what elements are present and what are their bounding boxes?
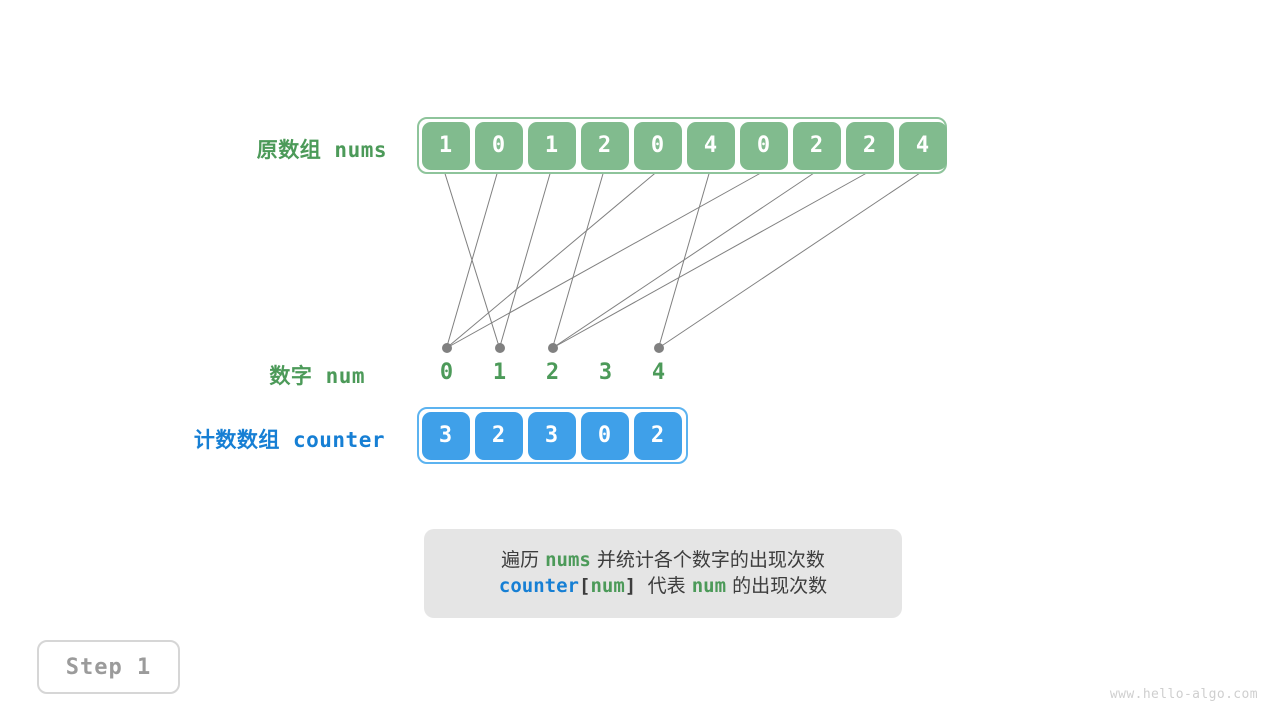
num-bucket-dot [495,343,505,353]
num-tick-label: 2 [526,362,579,384]
nums-cell: 0 [634,122,682,170]
caption-token-nums: nums [545,549,591,571]
caption-text-prefix: 遍历 [501,549,545,571]
counter-row-label: 计数数组 counter [90,424,385,454]
step-badge: Step 1 [37,640,180,694]
caption-text-means: 代表 [648,575,692,597]
counter-cell: 3 [422,412,470,460]
num-tick-label: 1 [473,362,526,384]
nums-cell: 0 [475,122,523,170]
mapping-line [447,172,763,348]
nums-cell: 4 [687,122,735,170]
num-tick-row: 01234 [420,340,710,388]
diagram-canvas: 原数组 nums 1012040224 数字 num 01234 计数数组 co… [0,0,1280,720]
nums-row-label: 原数组 nums [140,134,387,164]
num-bucket-dot [442,343,452,353]
num-bucket-dot [654,343,664,353]
watermark: www.hello-algo.com [1110,687,1258,702]
num-tick-label: 3 [579,362,632,384]
caption-line-1: 遍历 nums 并统计各个数字的出现次数 [501,551,825,570]
caption-token-counter: counter [499,575,579,597]
nums-cell: 2 [793,122,841,170]
nums-cell: 1 [528,122,576,170]
mapping-line [445,172,500,348]
nums-cell: 0 [740,122,788,170]
counter-cell: 2 [634,412,682,460]
mapping-line [447,172,498,348]
caption-token-num: num [692,575,726,597]
counter-cell: 0 [581,412,629,460]
nums-cell: 4 [899,122,947,170]
caption-token-num-index: num [590,575,624,597]
caption-line-2: counter[num] 代表 num 的出现次数 [499,577,827,596]
mapping-line [659,172,922,348]
num-row-label: 数字 num [140,360,365,390]
counter-array: 32302 [417,407,688,464]
counter-cell: 3 [528,412,576,460]
nums-cell: 2 [846,122,894,170]
nums-array: 1012040224 [417,117,947,174]
num-tick-label: 4 [632,362,685,384]
mapping-line [500,172,551,348]
num-tick-label: 0 [420,362,473,384]
mapping-line [659,172,710,348]
caption-bracket-close: ] [625,575,648,597]
num-bucket-dot [548,343,558,353]
caption-text-occurrences: 的出现次数 [726,575,827,597]
caption-bracket-open: [ [579,575,590,597]
mapping-line [553,172,604,348]
caption-box: 遍历 nums 并统计各个数字的出现次数 counter[num] 代表 num… [424,529,902,618]
mapping-line [447,172,657,348]
nums-cell: 1 [422,122,470,170]
counter-cell: 2 [475,412,523,460]
nums-cell: 2 [581,122,629,170]
caption-text-suffix: 并统计各个数字的出现次数 [591,549,825,571]
mapping-line [553,172,869,348]
mapping-line [553,172,816,348]
